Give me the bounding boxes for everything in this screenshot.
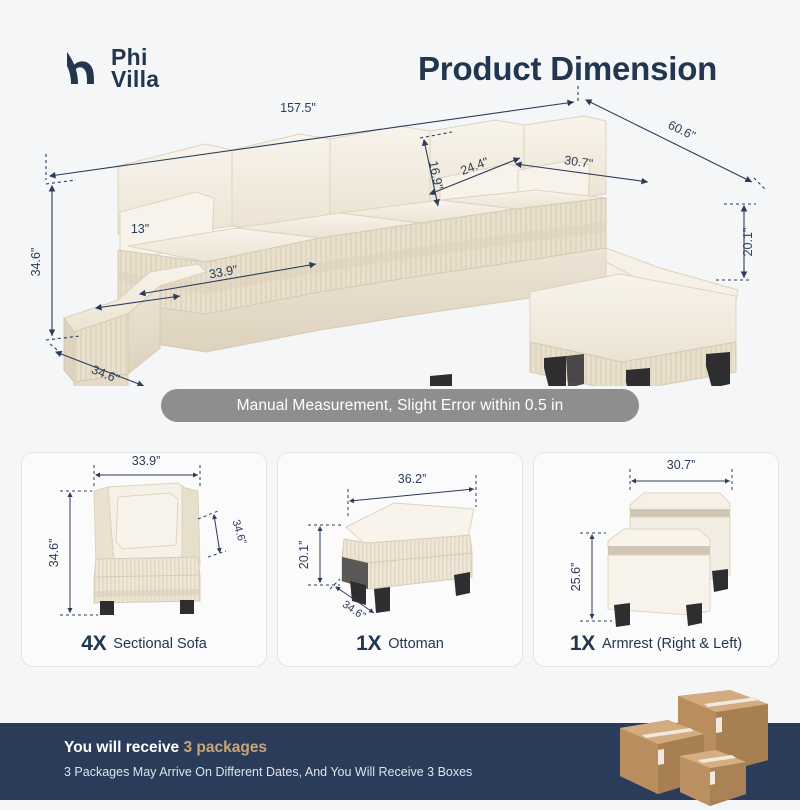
armrest-illustration: 30.7” 25.6” — [534, 453, 782, 628]
product-dimension-infographic: Phi Villa Product Dimension — [0, 0, 800, 800]
card1-label: Sectional Sofa — [113, 636, 207, 652]
card3-label: Armrest (Right & Left) — [602, 636, 742, 652]
sectional-sofa-illustration: 33.9” 34.6” 34.6” — [22, 453, 270, 628]
sofa-illustration: 157.5" 60.6" 16.9" 30.7" 24.4" 33.9" 13"… — [0, 86, 800, 386]
card-sectional-sofa-caption: 4X Sectional Sofa — [22, 626, 266, 666]
page-title: Product Dimension — [418, 50, 717, 88]
armrest-art: 30.7” 25.6” — [534, 453, 778, 626]
dim-overall-width: 157.5" — [280, 101, 316, 115]
dim-seat-height: 20.1" — [741, 228, 755, 257]
card2-dim-height: 20.1” — [297, 541, 311, 570]
card1-dim-width: 33.9” — [132, 454, 161, 468]
dim-armrest-width: 13" — [131, 222, 149, 236]
package-contents-cards: 33.9” 34.6” 34.6” 4X Sectional Sofa — [21, 452, 779, 667]
card-ottoman-caption: 1X Ottoman — [278, 626, 522, 666]
footer-subtext: 3 Packages May Arrive On Different Dates… — [64, 765, 472, 779]
brand-logo: Phi Villa — [62, 46, 159, 90]
card2-quantity: 1X — [356, 632, 381, 656]
card2-label: Ottoman — [388, 636, 444, 652]
footer-headline-highlight: 3 packages — [183, 739, 267, 756]
card-ottoman[interactable]: 36.2” 20.1” 34.6” 1X Ottoman — [277, 452, 523, 667]
card-sectional-sofa[interactable]: 33.9” 34.6” 34.6” 4X Sectional Sofa — [21, 452, 267, 667]
hero-product-diagram: 157.5" 60.6" 16.9" 30.7" 24.4" 33.9" 13"… — [0, 86, 800, 386]
card1-dim-depth: 34.6” — [229, 518, 248, 546]
brand-name-line1: Phi — [111, 46, 159, 68]
card3-dim-width: 30.7” — [667, 458, 696, 472]
dim-overall-depth: 60.6" — [666, 118, 698, 143]
cardboard-boxes-icon — [618, 688, 800, 810]
footer-headline: You will receive 3 packages — [64, 739, 267, 757]
card-armrest-caption: 1X Armrest (Right & Left) — [534, 626, 778, 666]
card1-quantity: 4X — [81, 632, 106, 656]
card3-dim-height: 25.6” — [569, 563, 583, 592]
footer-headline-lead: You will receive — [64, 739, 179, 756]
brand-name: Phi Villa — [111, 46, 159, 90]
sectional-sofa-art: 33.9” 34.6” 34.6” — [22, 453, 266, 626]
ottoman-illustration: 36.2” 20.1” 34.6” — [278, 453, 526, 628]
card1-dim-height: 34.6” — [47, 539, 61, 568]
card2-dim-width: 36.2” — [398, 472, 427, 486]
ottoman-art: 36.2” 20.1” 34.6” — [278, 453, 522, 626]
phi-villa-logo-icon — [62, 48, 102, 88]
card3-quantity: 1X — [570, 632, 595, 656]
dim-overall-height: 34.6" — [29, 248, 43, 277]
manual-measurement-notice: Manual Measurement, Slight Error within … — [161, 389, 639, 422]
card-armrest[interactable]: 30.7” 25.6” 1X Armrest (Right & Left) — [533, 452, 779, 667]
